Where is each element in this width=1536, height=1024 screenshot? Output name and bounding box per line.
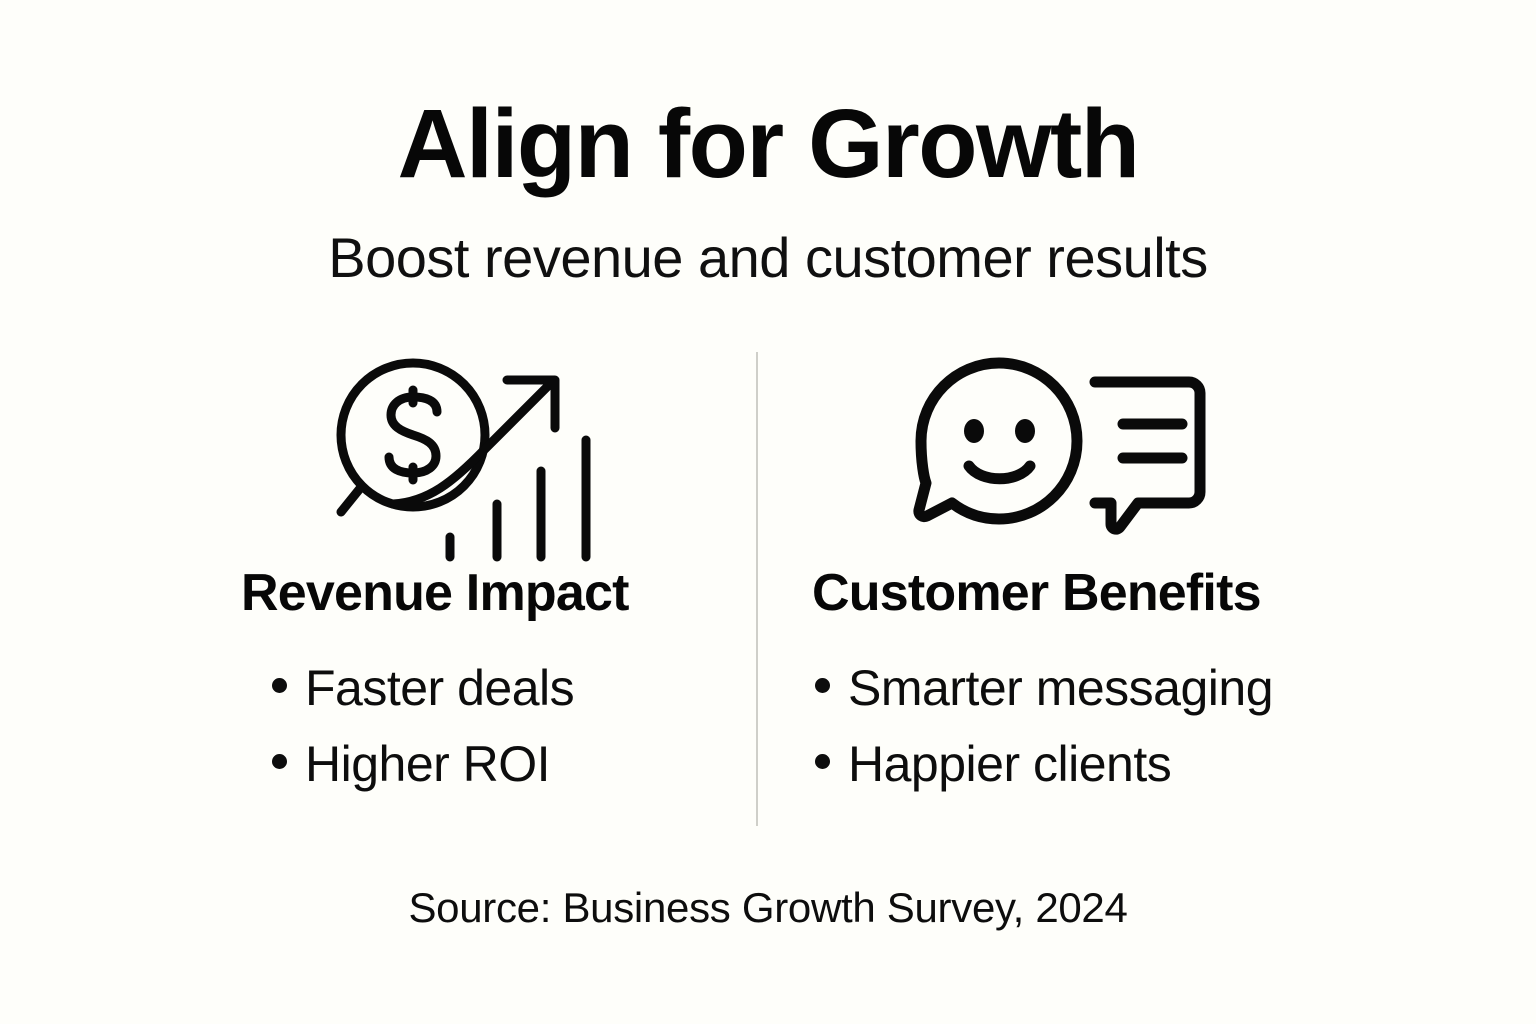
- magnifier-dollar-growth-chart-icon: [333, 352, 603, 567]
- source-note: Source: Business Growth Survey, 2024: [0, 884, 1536, 932]
- bullet-list-revenue-impact: Faster deals Higher ROI: [0, 663, 757, 789]
- page-subtitle: Boost revenue and customer results: [0, 230, 1536, 286]
- bullet-dot-icon: [815, 678, 830, 693]
- column-heading-customer-benefits: Customer Benefits: [757, 567, 1536, 619]
- infographic-slide: Align for Growth Boost revenue and custo…: [0, 0, 1536, 1024]
- list-item: Higher ROI: [272, 739, 757, 789]
- list-item-label: Happier clients: [848, 739, 1171, 789]
- list-item: Faster deals: [272, 663, 757, 713]
- header-block: Align for Growth Boost revenue and custo…: [0, 95, 1536, 286]
- list-item: Smarter messaging: [815, 663, 1536, 713]
- bullet-dot-icon: [815, 754, 830, 769]
- list-item-label: Faster deals: [305, 663, 574, 713]
- column-revenue-impact: Revenue Impact Faster deals Higher ROI: [0, 352, 757, 832]
- bullet-dot-icon: [272, 754, 287, 769]
- revenue-icon-wrap: [0, 352, 757, 567]
- two-column-body: Revenue Impact Faster deals Higher ROI: [0, 352, 1536, 832]
- bullet-dot-icon: [272, 678, 287, 693]
- smiley-speech-bubble-chat-icon: [899, 352, 1219, 552]
- list-item: Happier clients: [815, 739, 1536, 789]
- bullet-list-customer-benefits: Smarter messaging Happier clients: [757, 663, 1536, 789]
- column-heading-revenue-impact: Revenue Impact: [0, 567, 757, 619]
- column-customer-benefits: Customer Benefits Smarter messaging Happ…: [757, 352, 1536, 832]
- page-title: Align for Growth: [0, 95, 1536, 192]
- list-item-label: Higher ROI: [305, 739, 550, 789]
- list-item-label: Smarter messaging: [848, 663, 1273, 713]
- customer-icon-wrap: [757, 352, 1536, 567]
